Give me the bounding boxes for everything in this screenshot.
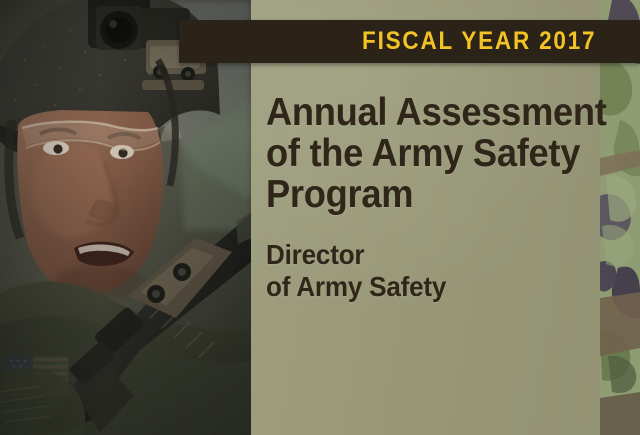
- fiscal-year-label: FISCAL YEAR 2017: [362, 29, 596, 54]
- page-title-line-1: Annual Assessment: [266, 92, 573, 133]
- page-subtitle-line-2: of Army Safety: [266, 271, 573, 303]
- page-subtitle-line-1: Director: [266, 239, 573, 271]
- page-title: Annual Assessment of the Army Safety Pro…: [266, 92, 573, 215]
- camouflage-strip: [600, 0, 640, 435]
- poster-banner: FISCAL YEAR 2017 Annual Assessment of th…: [0, 0, 640, 435]
- fiscal-year-banner: FISCAL YEAR 2017: [179, 20, 640, 63]
- soldier-photo: [0, 0, 251, 435]
- title-block: Annual Assessment of the Army Safety Pro…: [266, 92, 596, 303]
- page-subtitle: Director of Army Safety: [266, 239, 573, 303]
- page-title-line-3: Program: [266, 174, 573, 215]
- page-title-line-2: of the Army Safety: [266, 133, 573, 174]
